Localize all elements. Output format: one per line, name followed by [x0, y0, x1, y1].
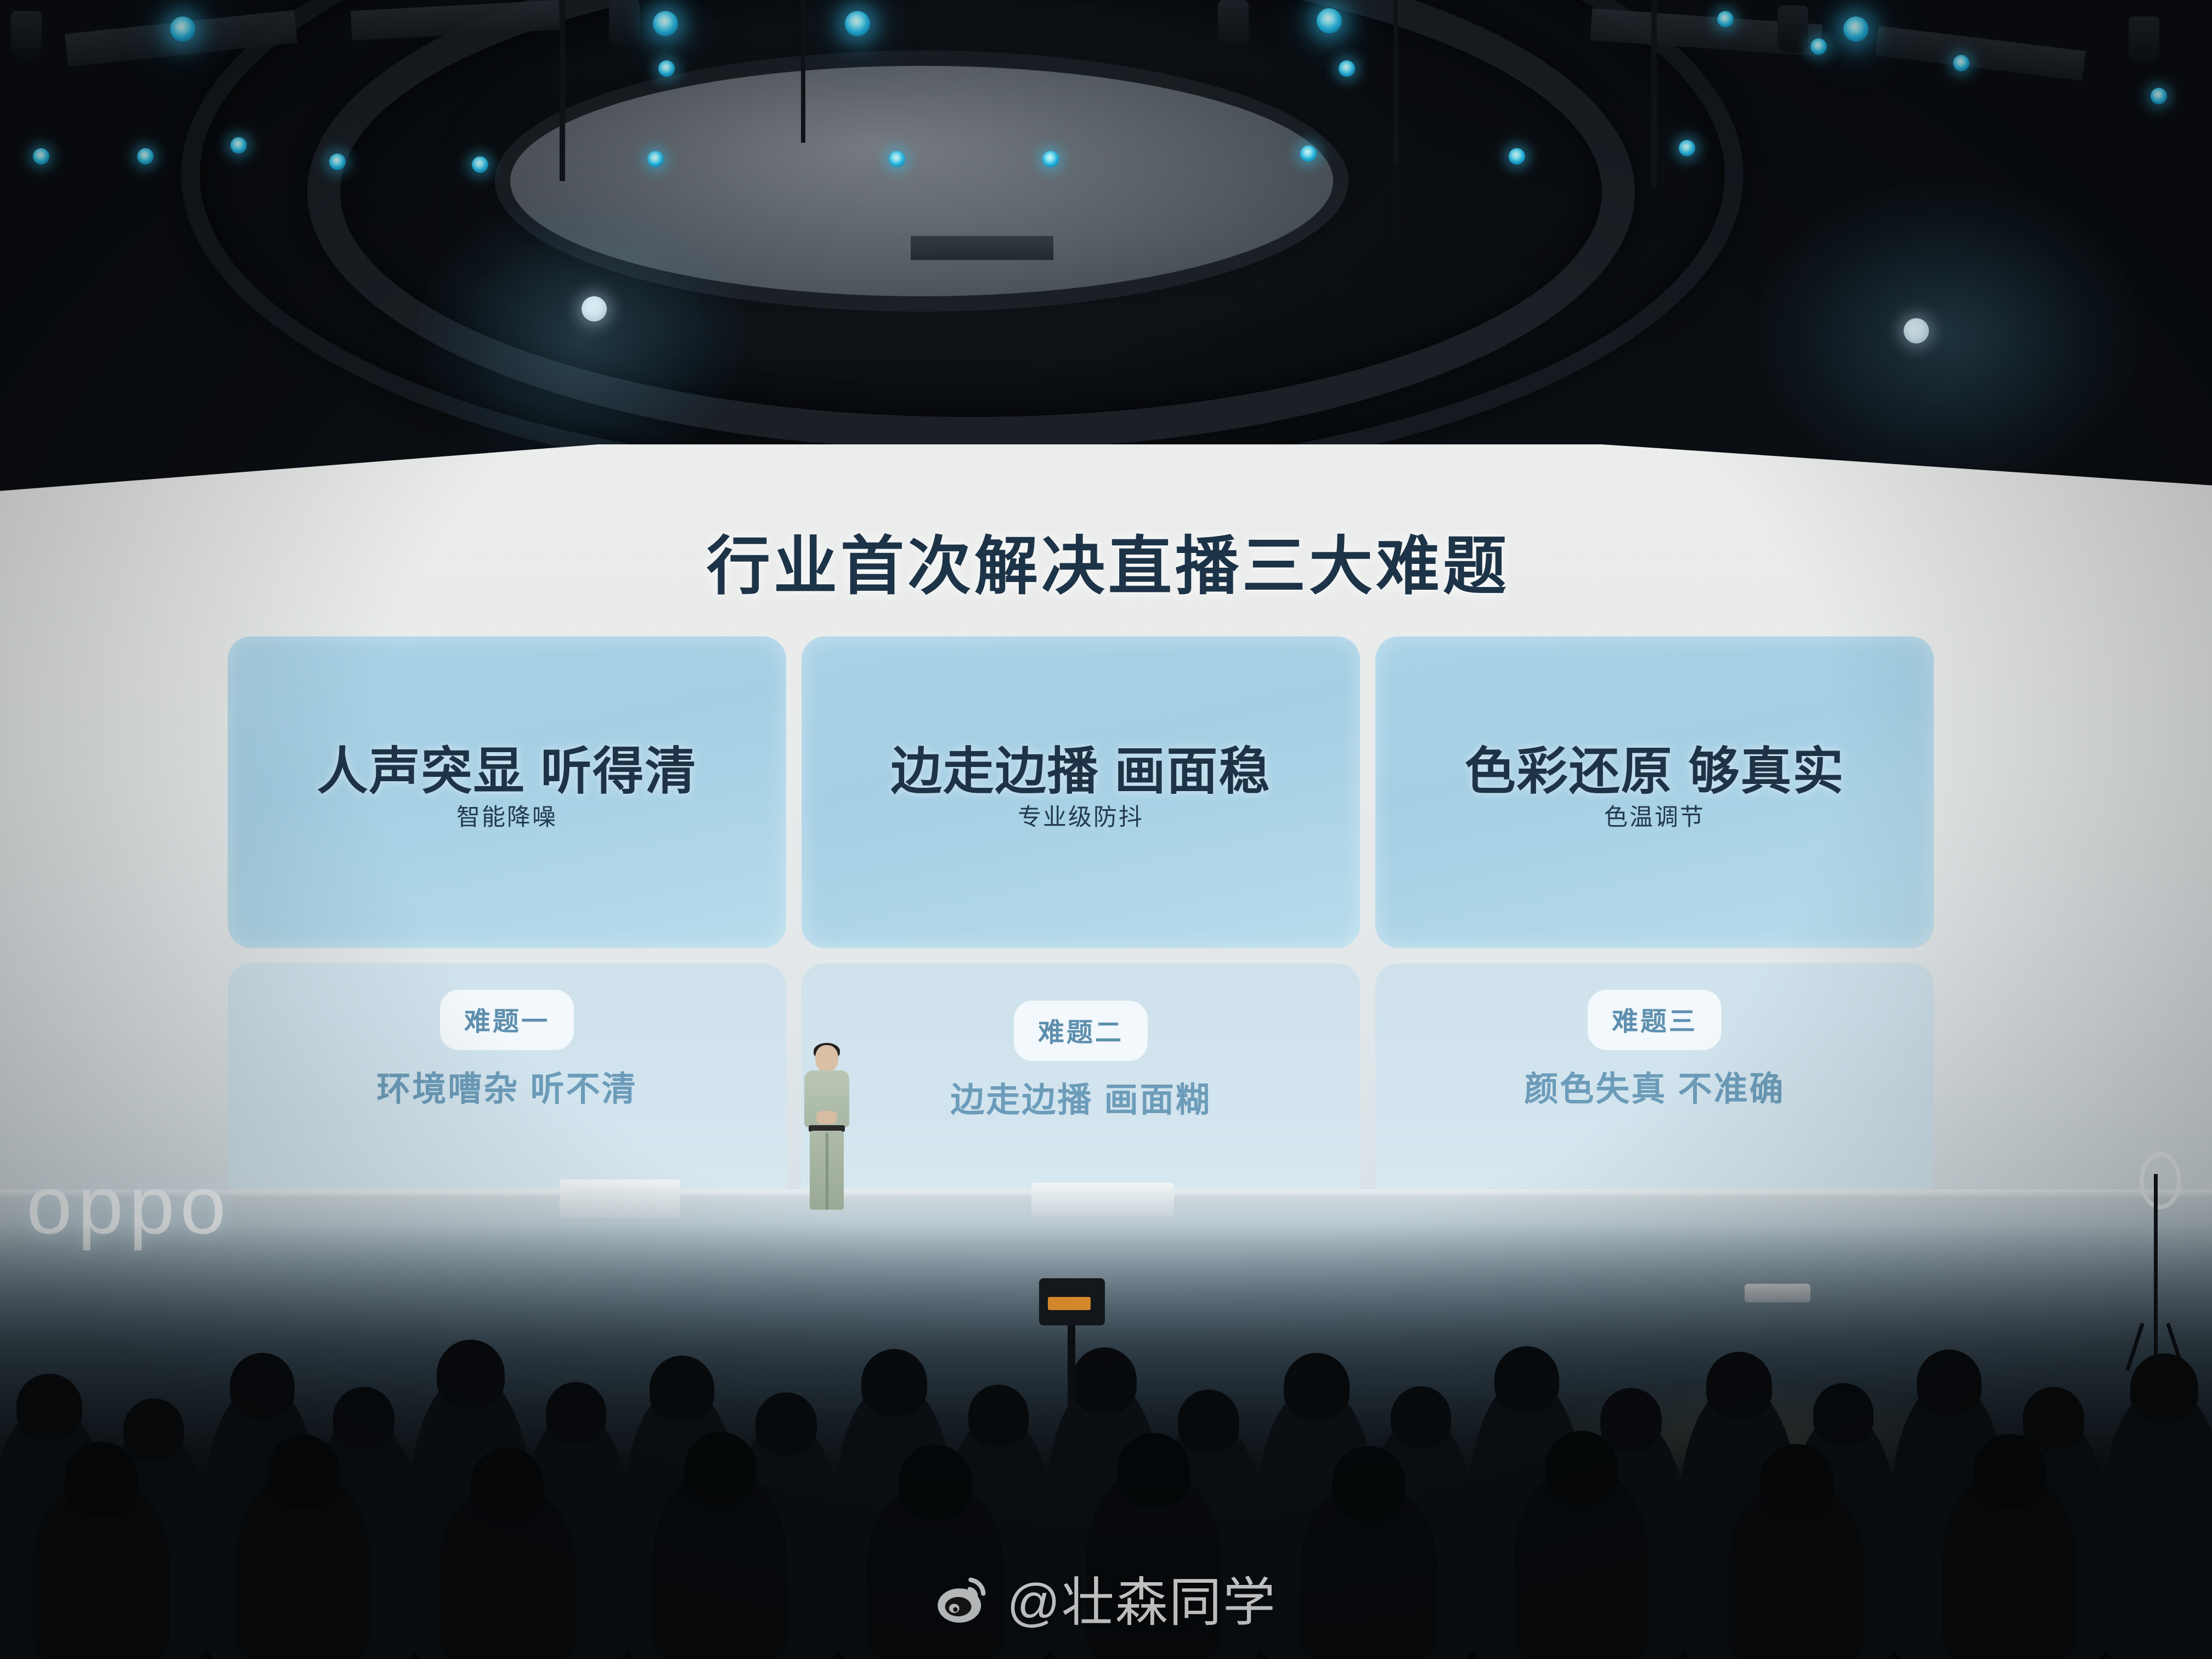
solution-subline: 专业级防抖	[802, 798, 1360, 832]
problem-badge: 难题二	[1014, 1001, 1148, 1061]
solution-headline: 边走边播 画面稳	[802, 730, 1360, 804]
led-wall-slide: 行业首次解决直播三大难题 人声突显 听得清 智能降噪 边走边播 画面稳 专业级防…	[0, 444, 2212, 1245]
solution-card: 色彩还原 够真实 色温调节	[1375, 636, 1934, 948]
stage-light-lamp	[889, 151, 905, 167]
stage-light-fixture	[1218, 0, 1249, 47]
camera-tag	[1048, 1297, 1091, 1310]
weibo-watermark: @壮森同学	[0, 1560, 2212, 1636]
stage-light-lamp-warm	[1904, 318, 1929, 343]
rigging-cable	[1651, 0, 1657, 187]
solution-headline: 人声突显 听得清	[228, 730, 786, 804]
rigging-cable	[560, 0, 565, 181]
solution-subline: 智能降噪	[228, 798, 786, 832]
stage-light-lamp	[1843, 16, 1869, 42]
problem-card: 难题一 环境嘈杂 听不清	[228, 963, 786, 1221]
stage-light-lamp	[1042, 151, 1059, 167]
stage-light-lamp	[1339, 60, 1355, 77]
problem-badge: 难题三	[1588, 990, 1722, 1050]
weibo-handle: @壮森同学	[1007, 1560, 1276, 1636]
problem-card: 难题三 颜色失真 不准确	[1375, 963, 1934, 1221]
problem-text: 环境嘈杂 听不清	[228, 1061, 786, 1110]
stage-light-lamp	[329, 154, 346, 170]
stage-light-lamp	[33, 148, 49, 165]
presenter-hands	[816, 1111, 837, 1124]
solution-headline: 色彩还原 够真实	[1375, 730, 1934, 804]
stage-riser	[560, 1180, 680, 1218]
camera-stem	[1068, 1325, 1075, 1408]
stage-light-lamp	[647, 151, 664, 167]
ceiling-grid-panel	[911, 236, 1053, 260]
weibo-icon	[935, 1570, 992, 1627]
stage-light-lamp	[170, 16, 195, 42]
stage-light-lamp	[1717, 11, 1734, 27]
stage-riser	[1031, 1183, 1174, 1217]
stage-light-lamp	[1953, 55, 1970, 71]
stage-light-lamp	[1317, 8, 1342, 33]
keynote-stage-photo: 行业首次解决直播三大难题 人声突显 听得清 智能降噪 边走边播 画面稳 专业级防…	[0, 0, 2212, 1659]
stage-light-fixture	[609, 0, 640, 47]
stage-light-lamp	[137, 148, 154, 165]
stage-light-lamp	[2151, 88, 2167, 104]
stage-light-fixture	[2129, 16, 2159, 64]
ring-light-icon	[2140, 1152, 2181, 1209]
stage-light-lamp	[653, 11, 678, 36]
problem-text: 边走边播 画面糊	[802, 1072, 1360, 1121]
stage-light-lamp	[1509, 148, 1525, 165]
presenter-on-stage	[797, 1045, 857, 1210]
presenter-leg-split	[826, 1133, 828, 1210]
solution-subline: 色温调节	[1375, 798, 1934, 832]
presenter-head	[815, 1045, 838, 1073]
camera-rig	[1031, 1278, 1114, 1410]
stage-light-lamp	[658, 60, 675, 77]
rigging-cable	[1393, 0, 1398, 165]
rigging-cable	[801, 0, 805, 143]
stage-light-lamp	[230, 137, 247, 154]
solution-card: 边走边播 画面稳 专业级防抖	[802, 636, 1360, 948]
solution-card: 人声突显 听得清 智能降噪	[228, 636, 786, 948]
stage-light-lamp	[1679, 140, 1695, 156]
light-beam	[1756, 181, 2140, 488]
solution-cards-row: 人声突显 听得清 智能降噪 边走边播 画面稳 专业级防抖 色彩还原 够真实 色温…	[228, 636, 1934, 948]
stage-light-lamp	[1810, 38, 1827, 55]
slide-title: 行业首次解决直播三大难题	[0, 515, 2212, 607]
stage-light-fixture	[1778, 5, 1808, 53]
ceiling-truss-area	[0, 0, 2212, 494]
problem-text: 颜色失真 不准确	[1375, 1061, 1934, 1110]
problem-badge: 难题一	[440, 990, 574, 1050]
ceiling-grid-panel	[1875, 26, 2086, 81]
stage-light-fixture	[11, 11, 42, 58]
ceiling-disc	[510, 66, 1333, 296]
stage-light-lamp	[845, 11, 870, 36]
stage-light-lamp	[1300, 145, 1317, 162]
stage-light-lamp	[472, 156, 488, 173]
stage-light-lamp-warm	[582, 296, 607, 321]
